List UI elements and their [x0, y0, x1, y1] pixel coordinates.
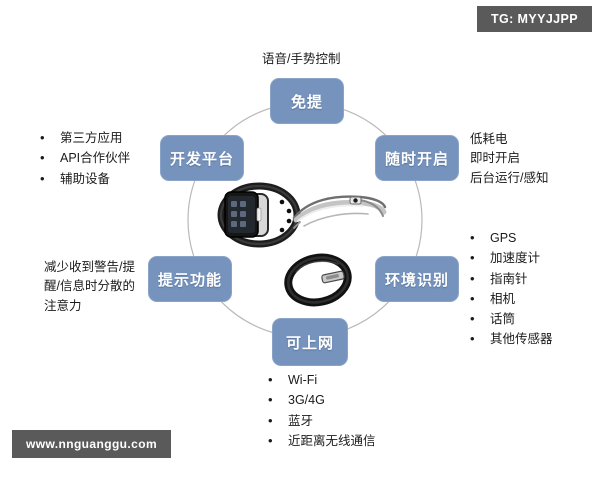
node-environment-recognition[interactable]: 环境识别 [375, 256, 459, 302]
list-item: GPS [468, 228, 553, 248]
node-always-on[interactable]: 随时开启 [375, 135, 459, 181]
annotation-notification: 减少收到警告/提 醒/信息时分散的 注意力 [44, 258, 135, 316]
fitness-band-image [282, 252, 358, 308]
annotation-list-network: Wi-Fi 3G/4G 蓝牙 近距离无线通信 [266, 370, 376, 451]
annotation-list-sensors: GPS 加速度计 指南针 相机 话筒 其他传感器 [468, 228, 553, 350]
list-item: 辅助设备 [38, 169, 130, 189]
smart-glasses-image [288, 188, 388, 236]
list-item: API合作伙伴 [38, 148, 130, 168]
list-item: 指南针 [468, 269, 553, 289]
annotation-always-on-line-2: 即时开启 [470, 149, 548, 168]
list-item: 话筒 [468, 309, 553, 329]
annotation-notification-line-3: 注意力 [44, 297, 135, 316]
annotation-always-on: 低耗电 即时开启 后台运行/感知 [470, 130, 548, 188]
annotation-always-on-line-3: 后台运行/感知 [470, 169, 548, 188]
list-item: Wi-Fi [266, 370, 376, 390]
list-item: 3G/4G [266, 390, 376, 410]
diagram-canvas: 免提 随时开启 环境识别 可上网 提示功能 开发平台 语音/手势控制 低耗电 即… [0, 0, 600, 480]
node-notification-function[interactable]: 提示功能 [148, 256, 232, 302]
telegram-watermark-badge: TG: MYYJJPP [477, 6, 592, 32]
list-item: 第三方应用 [38, 128, 130, 148]
node-development-platform[interactable]: 开发平台 [160, 135, 244, 181]
list-item: 加速度计 [468, 248, 553, 268]
website-watermark-badge: www.nnguanggu.com [12, 430, 171, 458]
list-item: 近距离无线通信 [266, 431, 376, 451]
node-hands-free[interactable]: 免提 [270, 78, 344, 124]
annotation-list-development-platform: 第三方应用 API合作伙伴 辅助设备 [38, 128, 130, 189]
list-item: 相机 [468, 289, 553, 309]
annotation-always-on-line-1: 低耗电 [470, 130, 548, 149]
list-item: 其他传感器 [468, 329, 553, 349]
annotation-notification-line-2: 醒/信息时分散的 [44, 277, 135, 296]
node-internet-capable[interactable]: 可上网 [272, 318, 348, 366]
annotation-voice-gesture: 语音/手势控制 [262, 50, 340, 69]
annotation-notification-line-1: 减少收到警告/提 [44, 258, 135, 277]
list-item: 蓝牙 [266, 411, 376, 431]
